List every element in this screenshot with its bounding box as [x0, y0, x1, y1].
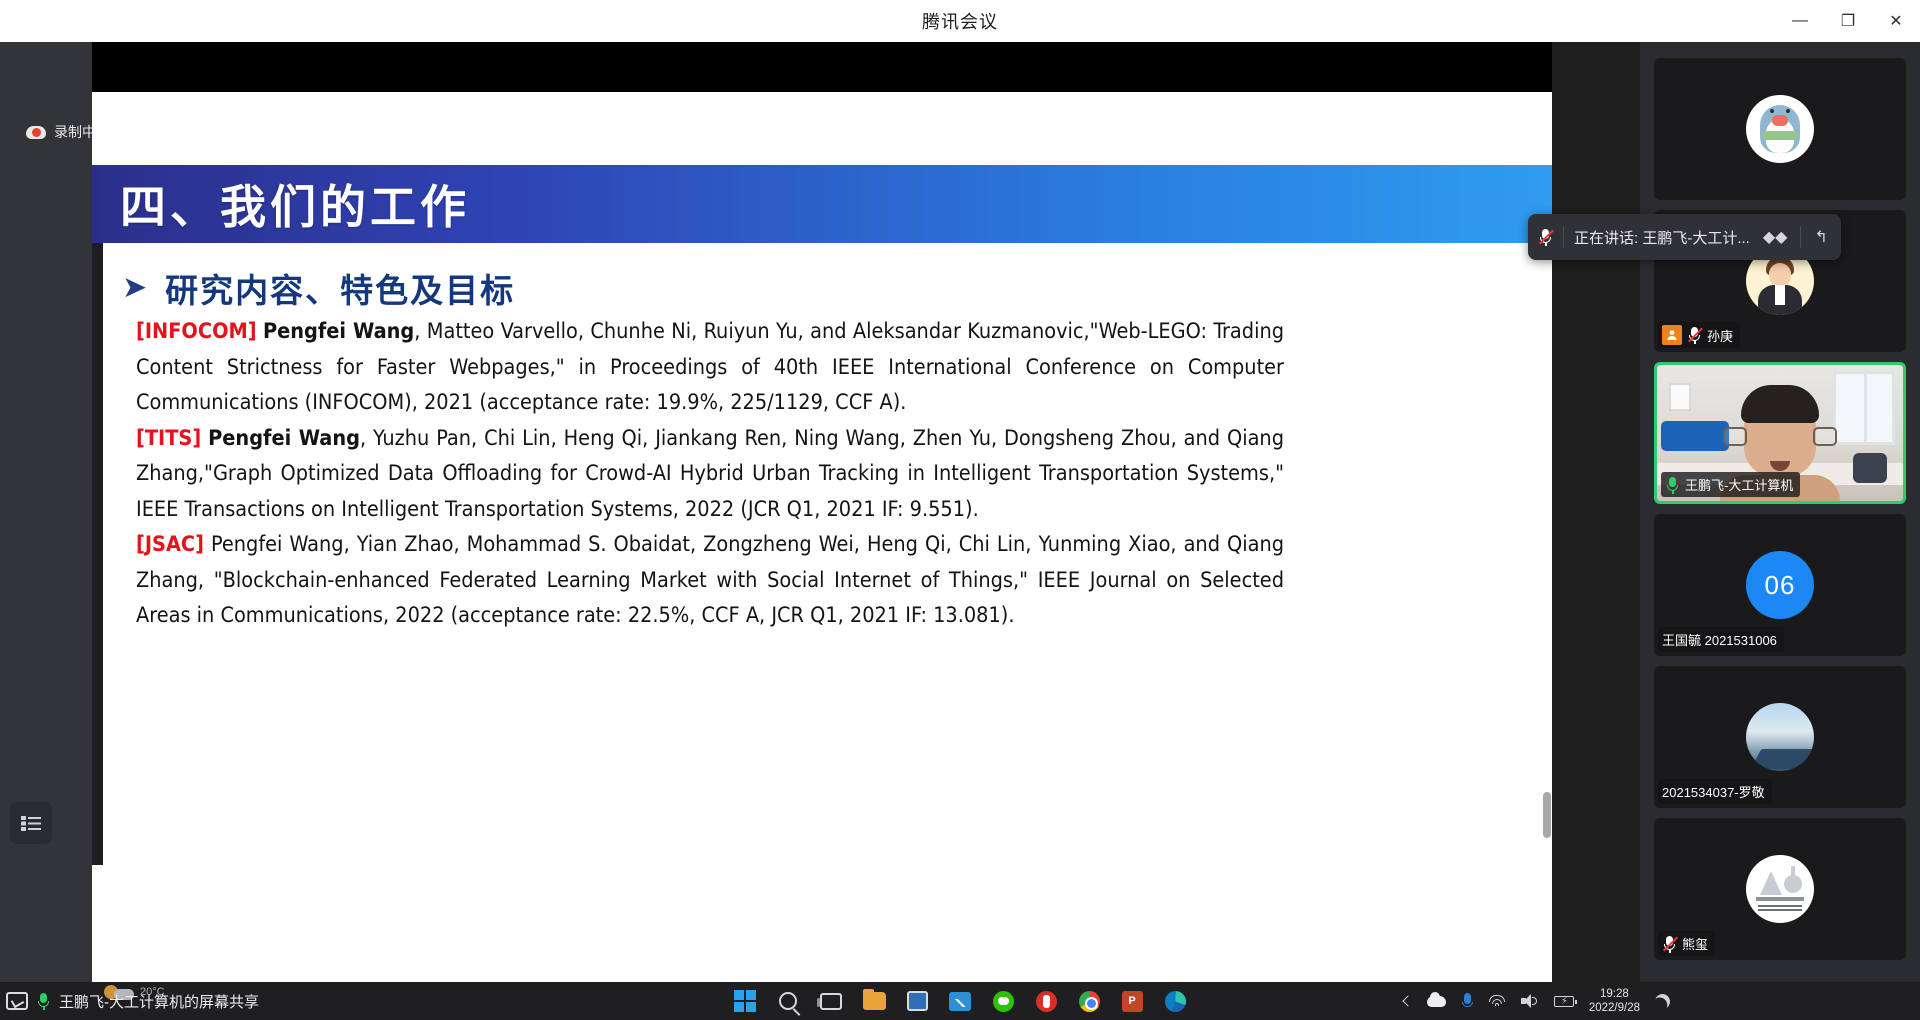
- maximize-button[interactable]: ❐: [1824, 0, 1872, 42]
- folder-icon: [863, 992, 886, 1010]
- shared-screen-stage[interactable]: 四、我们的工作 ➤ 研究内容、特色及目标 [INFOCOM] Pengfei W…: [92, 42, 1552, 982]
- avatar: [1746, 703, 1814, 771]
- participant-name: 王国毓 2021531006: [1662, 630, 1777, 649]
- participant-label: 2021534037-罗敬: [1658, 779, 1772, 804]
- windows-logo-icon: [734, 990, 756, 1012]
- screen-share-status[interactable]: 王鹏飞-大工计算机的屏幕共享: [0, 991, 360, 1012]
- mic-active-icon[interactable]: [36, 992, 51, 1010]
- reference-tag: [TITS]: [136, 426, 201, 451]
- clock-date: 2022/9/28: [1589, 1001, 1640, 1015]
- speaking-text: 正在讲话: 王鹏飞-大工计...: [1574, 227, 1750, 248]
- battery-charging-icon: ⚡: [1554, 996, 1574, 1007]
- cloud-icon: [1427, 996, 1446, 1007]
- slide-subtitle: 研究内容、特色及目标: [165, 264, 515, 312]
- participant-name: 王鹏飞-大工计算机: [1685, 475, 1793, 494]
- list-view-button[interactable]: [10, 802, 52, 844]
- task-view-button[interactable]: [818, 988, 844, 1014]
- wifi-icon: [1489, 995, 1506, 1008]
- edge-icon: [1165, 991, 1186, 1012]
- mic-muted-icon: [1662, 935, 1677, 953]
- volume-icon: [1521, 994, 1539, 1008]
- recording-indicator: 录制中: [26, 122, 96, 142]
- participant-panel[interactable]: 孙庚 王鹏飞-大工计算机 0: [1640, 42, 1920, 982]
- recording-label: 录制中: [54, 122, 96, 142]
- chevron-up-icon: [1402, 995, 1413, 1006]
- tray-overflow-button[interactable]: [1404, 997, 1412, 1005]
- slide-title: 四、我们的工作: [120, 171, 470, 237]
- windows-taskbar: 20°C 王鹏飞-大工计算机的屏幕共享 P: [0, 982, 1920, 1020]
- system-tray: ⚡ 19:28 2022/9/28: [1404, 987, 1670, 1015]
- participant-label: 王国毓 2021531006: [1658, 627, 1784, 652]
- close-button[interactable]: ✕: [1872, 0, 1920, 42]
- participant-name: 2021534037-罗敬: [1662, 782, 1765, 801]
- file-explorer-button[interactable]: [861, 988, 887, 1014]
- microphone-button[interactable]: [1461, 993, 1474, 1010]
- mic-muted-icon: [1687, 326, 1702, 344]
- arrow-bullet-icon: ➤: [122, 273, 147, 303]
- layout-switch-icon[interactable]: ◆◆: [1760, 227, 1791, 247]
- battery-button[interactable]: ⚡: [1554, 996, 1574, 1007]
- powerpoint-icon: P: [1122, 991, 1143, 1012]
- mic-active-icon: [1665, 476, 1680, 494]
- clock[interactable]: 19:28 2022/9/28: [1589, 987, 1640, 1015]
- participant-label: 熊玺: [1658, 931, 1715, 956]
- list-view-icon: [21, 815, 41, 831]
- microphone-icon: [1461, 993, 1474, 1010]
- charts-app-button[interactable]: [947, 988, 973, 1014]
- slide-reference-list: [INFOCOM] Pengfei Wang, Matteo Varvello,…: [136, 314, 1284, 634]
- share-label: 王鹏飞-大工计算机的屏幕共享: [59, 991, 259, 1012]
- toast-divider: [1800, 226, 1801, 248]
- task-view-icon: [820, 993, 842, 1010]
- window-controls: — ❐ ✕: [1776, 0, 1920, 42]
- participant-label: 孙庚: [1658, 322, 1740, 348]
- host-badge-icon: [1662, 325, 1682, 345]
- recording-dot-icon: [26, 125, 46, 140]
- do-not-disturb-moon-icon: [1653, 991, 1673, 1011]
- participant-tile[interactable]: 熊玺: [1654, 818, 1906, 960]
- search-button[interactable]: [775, 988, 801, 1014]
- red-app-button[interactable]: [1033, 988, 1059, 1014]
- screen-share-icon: [6, 992, 28, 1010]
- presentation-slide: 四、我们的工作 ➤ 研究内容、特色及目标 [INFOCOM] Pengfei W…: [92, 92, 1552, 988]
- powerpoint-button[interactable]: P: [1119, 988, 1145, 1014]
- participant-tile[interactable]: 2021534037-罗敬: [1654, 666, 1906, 808]
- chrome-icon: [1079, 991, 1100, 1012]
- participant-tile[interactable]: [1654, 58, 1906, 200]
- participant-tile-active-speaker[interactable]: 王鹏飞-大工计算机: [1654, 362, 1906, 504]
- avatar: 06: [1746, 551, 1814, 619]
- wechat-button[interactable]: [990, 988, 1016, 1014]
- reference-bold-author: Pengfei Wang: [208, 426, 360, 451]
- window-title: 腾讯会议: [922, 8, 998, 34]
- reference-bold-author: Pengfei Wang: [263, 319, 414, 344]
- reference-item: [JSAC] Pengfei Wang, Yian Zhao, Mohammad…: [136, 527, 1284, 634]
- store-icon: [907, 991, 928, 1011]
- participant-tile[interactable]: 06 王国毓 2021531006: [1654, 514, 1906, 656]
- network-button[interactable]: [1489, 995, 1506, 1008]
- slide-scrollbar[interactable]: [1543, 792, 1551, 838]
- meeting-body: 录制中 四、我们的工: [0, 42, 1920, 982]
- participant-label: 王鹏飞-大工计算机: [1661, 472, 1800, 497]
- red-app-icon: [1036, 991, 1057, 1012]
- start-button[interactable]: [732, 988, 758, 1014]
- minimize-button[interactable]: —: [1776, 0, 1824, 42]
- participant-name: 熊玺: [1682, 934, 1708, 953]
- wechat-icon: [993, 991, 1014, 1012]
- speaking-toast[interactable]: 正在讲话: 王鹏飞-大工计... ◆◆ ↰: [1528, 214, 1841, 260]
- reference-tag: [INFOCOM]: [136, 319, 257, 344]
- reference-item: [INFOCOM] Pengfei Wang, Matteo Varvello,…: [136, 314, 1284, 421]
- avatar: [1746, 95, 1814, 163]
- volume-button[interactable]: [1521, 994, 1539, 1008]
- toast-divider: [1563, 226, 1564, 248]
- chrome-button[interactable]: [1076, 988, 1102, 1014]
- reference-text: Pengfei Wang, Yian Zhao, Mohammad S. Oba…: [136, 532, 1284, 628]
- title-bar: 腾讯会议 — ❐ ✕: [0, 0, 1920, 42]
- slide-accent-bar: [92, 165, 103, 865]
- participant-name: 孙庚: [1707, 326, 1733, 345]
- avatar: [1746, 855, 1814, 923]
- reference-item: [TITS] Pengfei Wang, Yuzhu Pan, Chi Lin,…: [136, 421, 1284, 528]
- chart-icon: [949, 992, 971, 1011]
- notification-button[interactable]: [1655, 994, 1670, 1009]
- taskbar-apps: P: [732, 988, 1188, 1014]
- search-icon: [779, 992, 797, 1010]
- reference-tag: [JSAC]: [136, 532, 204, 557]
- mic-muted-icon[interactable]: [1538, 228, 1553, 246]
- microsoft-store-button[interactable]: [904, 988, 930, 1014]
- slide-banner: 四、我们的工作: [92, 165, 1552, 243]
- clock-time: 19:28: [1589, 987, 1640, 1001]
- tencent-meeting-window: 腾讯会议 — ❐ ✕ 录制中: [0, 0, 1920, 1020]
- edge-button[interactable]: [1162, 988, 1188, 1014]
- collapse-arrow-icon[interactable]: ↰: [1811, 227, 1830, 247]
- left-rail: 录制中: [0, 42, 92, 982]
- onedrive-button[interactable]: [1427, 996, 1446, 1007]
- slide-subtitle-row: ➤ 研究内容、特色及目标: [122, 264, 515, 312]
